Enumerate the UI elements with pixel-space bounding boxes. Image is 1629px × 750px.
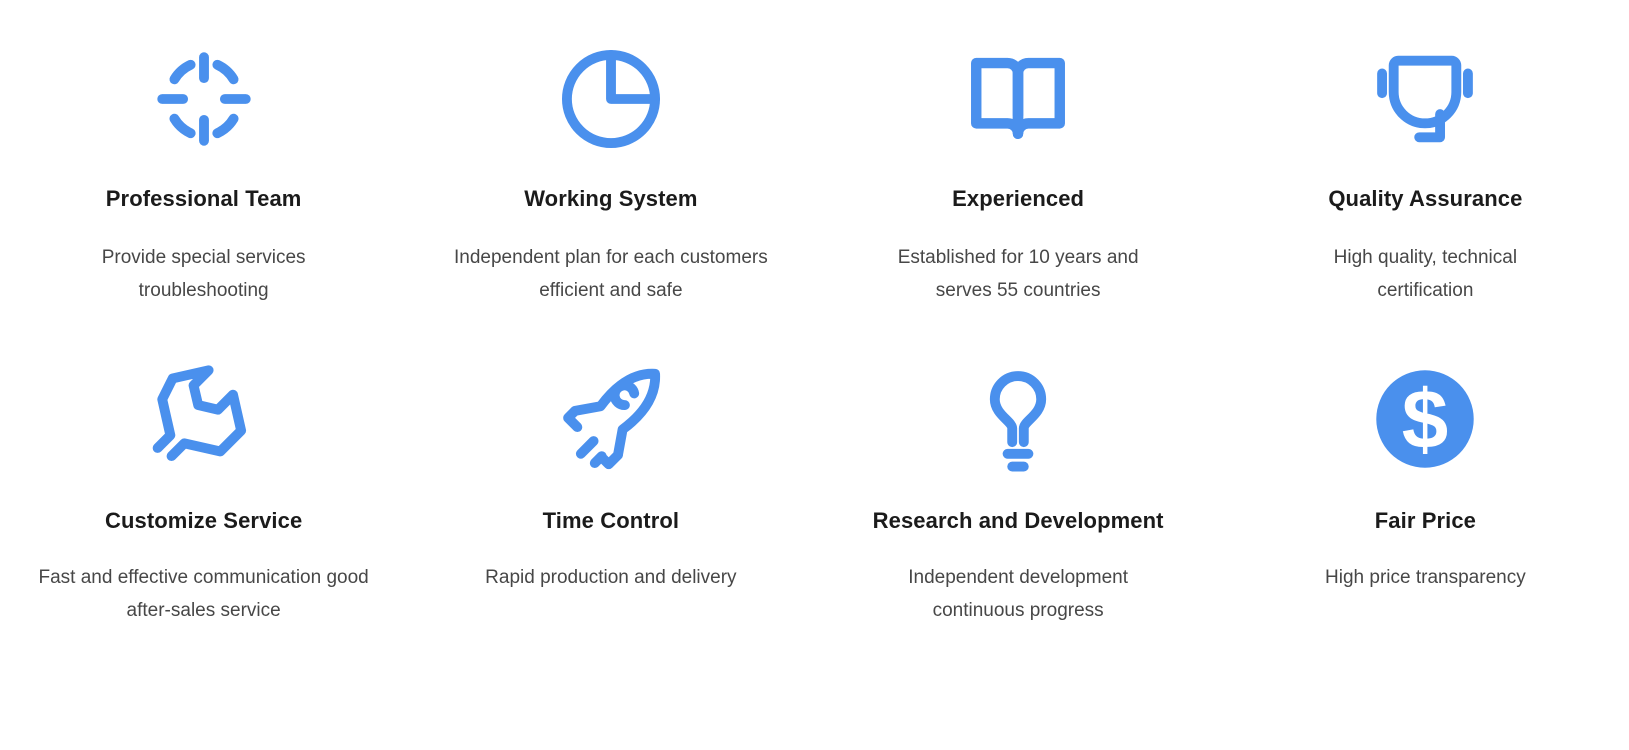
feature-title: Fair Price — [1375, 508, 1476, 534]
feature-title: Time Control — [543, 508, 679, 534]
feature-description: Independent development continuous progr… — [878, 562, 1158, 627]
wrench-icon — [139, 354, 269, 484]
feature-card-working-system[interactable]: Working System Independent plan for each… — [407, 34, 814, 354]
trophy-icon — [1360, 34, 1490, 164]
feature-card-research-and-development[interactable]: Research and Development Independent dev… — [815, 354, 1222, 674]
rocket-icon — [546, 354, 676, 484]
feature-title: Experienced — [952, 186, 1084, 212]
feature-description: High quality, technical certification — [1295, 242, 1555, 307]
feature-title: Research and Development — [873, 508, 1164, 534]
feature-description: Provide special services troubleshooting — [54, 242, 354, 307]
dollar-coin-icon: $ — [1360, 354, 1490, 484]
feature-card-fair-price[interactable]: $ Fair Price High price transparency — [1222, 354, 1629, 674]
feature-description: Established for 10 years and serves 55 c… — [868, 242, 1168, 307]
target-crosshair-icon — [139, 34, 269, 164]
feature-card-customize-service[interactable]: Customize Service Fast and effective com… — [0, 354, 407, 674]
feature-title: Professional Team — [106, 186, 302, 212]
feature-card-experienced[interactable]: Experienced Established for 10 years and… — [815, 34, 1222, 354]
features-row: Professional Team Provide special servic… — [0, 34, 1629, 354]
open-book-icon — [953, 34, 1083, 164]
feature-description: Fast and effective communication good af… — [29, 562, 379, 627]
feature-description: High price transparency — [1325, 562, 1526, 595]
features-row: Customize Service Fast and effective com… — [0, 354, 1629, 674]
feature-card-time-control[interactable]: Time Control Rapid production and delive… — [407, 354, 814, 674]
feature-title: Customize Service — [105, 508, 302, 534]
feature-card-quality-assurance[interactable]: Quality Assurance High quality, technica… — [1222, 34, 1629, 354]
features-section: Professional Team Provide special servic… — [0, 0, 1629, 750]
pie-chart-icon — [546, 34, 676, 164]
feature-title: Quality Assurance — [1328, 186, 1522, 212]
feature-title: Working System — [524, 186, 697, 212]
svg-text:$: $ — [1402, 372, 1448, 466]
feature-description: Independent plan for each customers effi… — [421, 242, 800, 307]
feature-description: Rapid production and delivery — [485, 562, 736, 595]
feature-card-professional-team[interactable]: Professional Team Provide special servic… — [0, 34, 407, 354]
lightbulb-icon — [953, 354, 1083, 484]
